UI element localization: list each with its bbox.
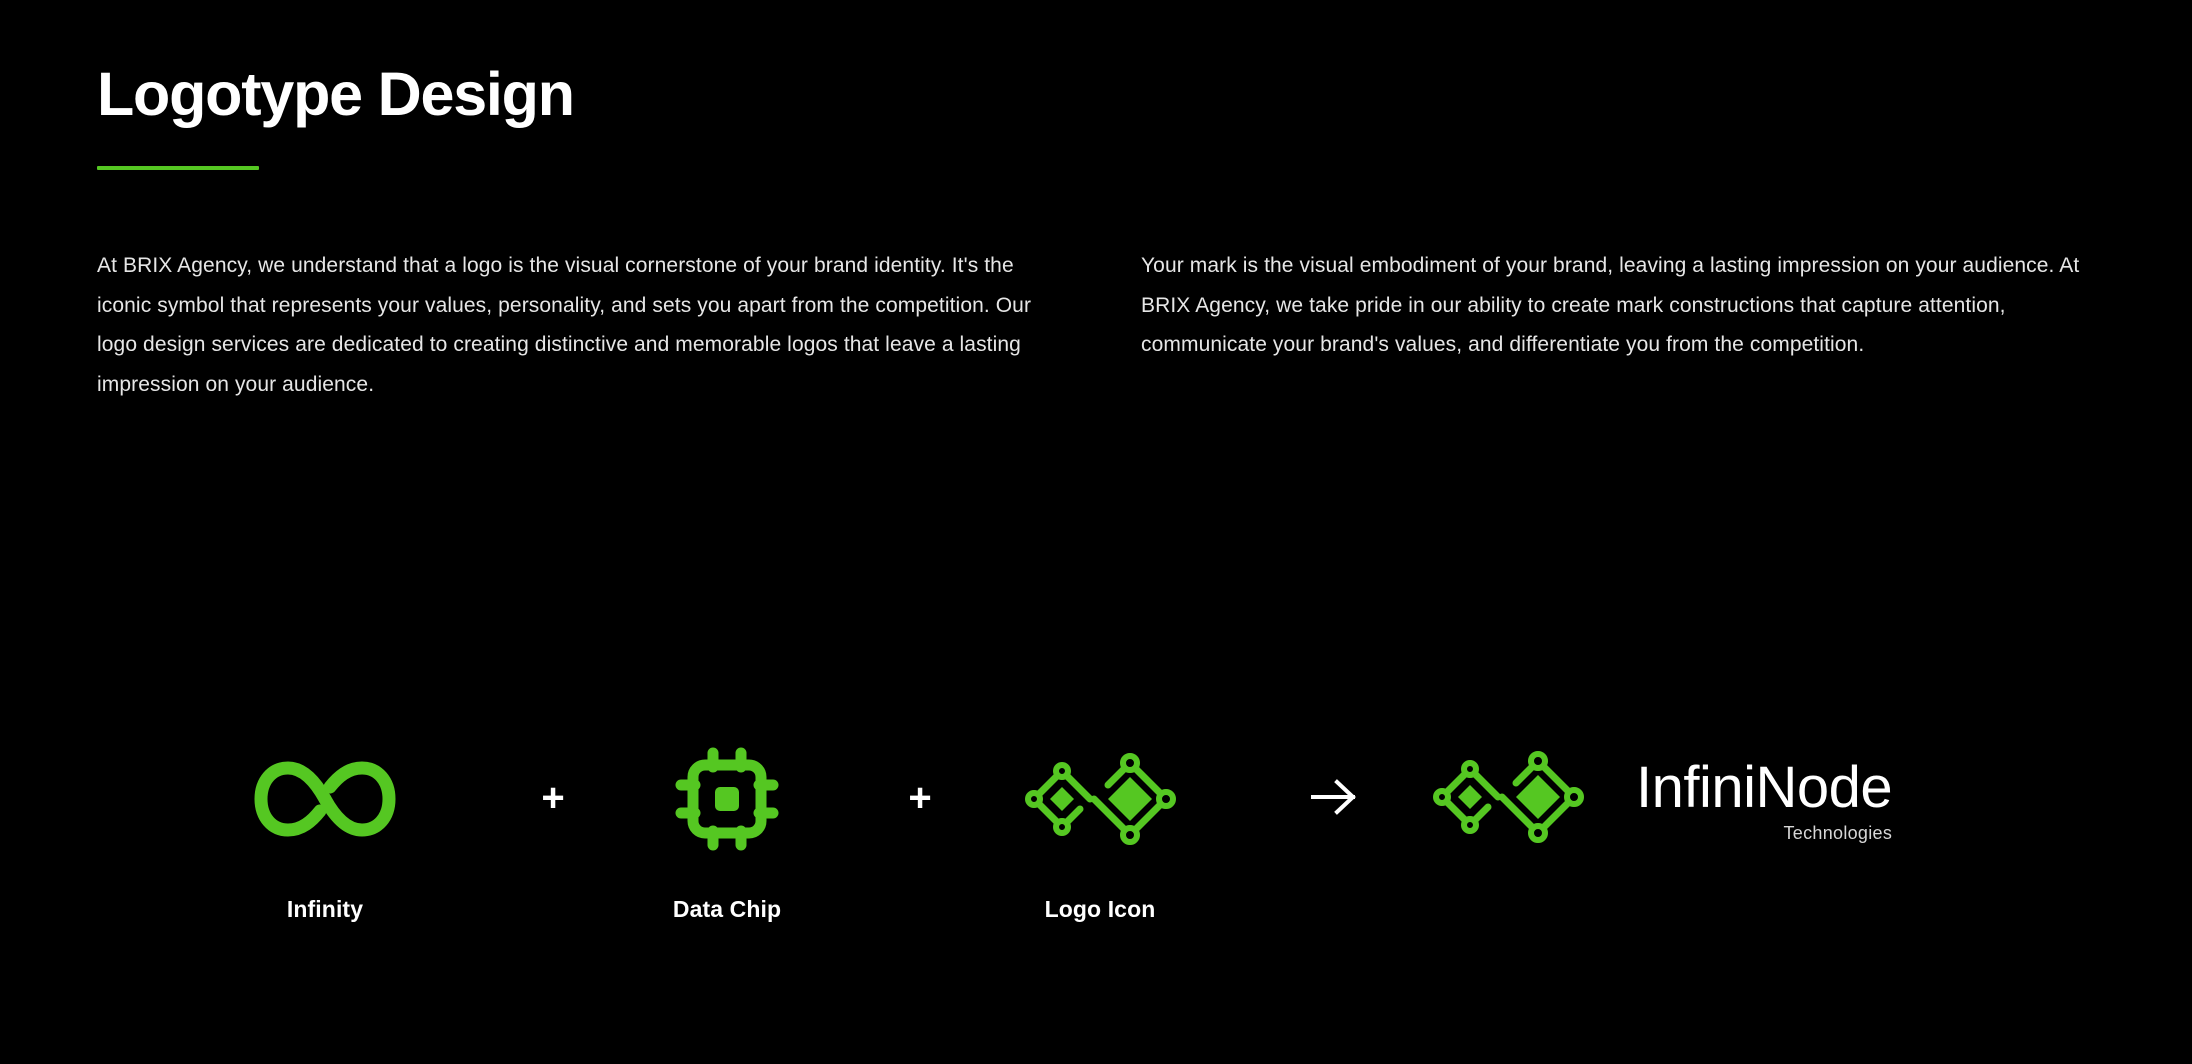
operator-plus-1: + (523, 740, 583, 858)
plus-icon: + (541, 778, 564, 818)
logo-icon (1012, 740, 1188, 858)
construction-item-logo-icon: Logo Icon (1009, 740, 1191, 923)
final-logo-lockup: InfiniNode Technologies (1420, 740, 1892, 858)
logo-construction-row: Infinity + (0, 740, 2192, 980)
construction-label-logo-icon: Logo Icon (1045, 896, 1156, 923)
operator-arrow (1280, 740, 1390, 858)
title-accent-rule (97, 166, 259, 170)
construction-item-data-chip: Data Chip (657, 740, 797, 923)
plus-icon: + (908, 778, 931, 818)
page-title: Logotype Design (97, 62, 1497, 126)
wordmark-tagline: Technologies (1783, 823, 1892, 844)
logotype-design-slide: Logotype Design At BRIX Agency, we under… (0, 0, 2192, 1064)
logo-icon (1420, 741, 1596, 858)
wordmark-name: InfiniNode (1636, 759, 1892, 817)
body-columns: At BRIX Agency, we understand that a log… (97, 246, 2097, 404)
data-chip-icon (675, 740, 779, 858)
construction-item-infinity: Infinity (245, 740, 405, 923)
construction-label-data-chip: Data Chip (673, 896, 781, 923)
body-paragraph-left: At BRIX Agency, we understand that a log… (97, 246, 1037, 404)
arrow-right-icon (1307, 775, 1363, 824)
body-column-left: At BRIX Agency, we understand that a log… (97, 246, 1037, 404)
body-column-right: Your mark is the visual embodiment of yo… (1141, 246, 2081, 404)
infinity-icon (250, 740, 400, 858)
body-paragraph-right: Your mark is the visual embodiment of yo… (1141, 246, 2081, 365)
header: Logotype Design (97, 62, 1497, 170)
wordmark: InfiniNode Technologies (1636, 759, 1892, 844)
construction-label-infinity: Infinity (287, 896, 363, 923)
operator-plus-2: + (890, 740, 950, 858)
